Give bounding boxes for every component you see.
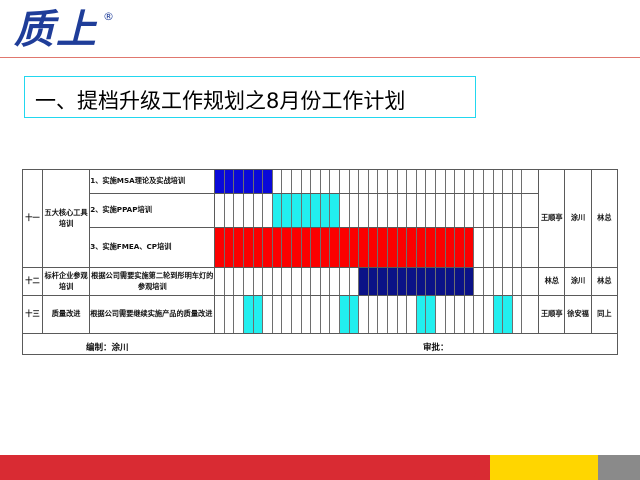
gantt-column [282, 194, 292, 227]
gantt-column [503, 194, 513, 227]
gantt-column [302, 228, 312, 267]
gantt-gridlines [215, 268, 538, 295]
gantt-column [234, 170, 244, 193]
page-title: 一、提档升级工作规划之8月份工作计划 [35, 85, 405, 115]
gantt-column [378, 194, 388, 227]
gantt-column [330, 228, 340, 267]
gantt-column [417, 170, 427, 193]
gantt-column [330, 268, 340, 295]
gantt-column [244, 296, 254, 333]
gantt-column [503, 170, 513, 193]
row-index-cell: 十一 [23, 170, 43, 268]
gantt-column [225, 228, 235, 267]
gantt-column [503, 268, 513, 295]
gantt-column [378, 296, 388, 333]
row-category-cell: 质量改进 [42, 296, 89, 334]
gantt-column [455, 296, 465, 333]
gantt-column [244, 194, 254, 227]
gantt-column [369, 170, 379, 193]
row-category-cell: 五大核心工具培训 [42, 170, 89, 268]
gantt-column [215, 268, 225, 295]
gantt-column [474, 194, 484, 227]
table-row: 十一五大核心工具培训1、实施MSA理论及实战培训王顺亭涂川林总 [23, 170, 618, 194]
gantt-column [426, 228, 436, 267]
gantt-column [426, 296, 436, 333]
gantt-column [474, 170, 484, 193]
owner-name-cell: 涂川 [565, 268, 591, 296]
gantt-column [302, 194, 312, 227]
gantt-column [273, 268, 283, 295]
gantt-column [273, 194, 283, 227]
gantt-column [302, 268, 312, 295]
gantt-column [330, 296, 340, 333]
gantt-gridlines [215, 170, 538, 193]
gantt-cell[interactable] [215, 268, 539, 296]
footer-gray-block [598, 455, 640, 480]
gantt-column [321, 194, 331, 227]
gantt-column [494, 170, 504, 193]
gantt-column [446, 228, 456, 267]
gantt-column [513, 296, 523, 333]
gantt-column [513, 228, 523, 267]
gantt-column [407, 296, 417, 333]
gantt-column [494, 296, 504, 333]
task-label-cell: 根据公司需要实施第二轮到彤明车灯的参观培训 [90, 268, 215, 296]
company-logo: 质上 [14, 8, 98, 52]
footer-red-block [0, 455, 492, 480]
header-divider [0, 57, 640, 58]
gantt-column [455, 228, 465, 267]
gantt-column [321, 228, 331, 267]
gantt-column [378, 228, 388, 267]
gantt-column [254, 228, 264, 267]
gantt-column [417, 194, 427, 227]
row-index-cell: 十三 [23, 296, 43, 334]
gantt-column [484, 296, 494, 333]
gantt-column [465, 268, 475, 295]
gantt-column [398, 170, 408, 193]
gantt-column [321, 268, 331, 295]
work-plan-table: 十一五大核心工具培训1、实施MSA理论及实战培训王顺亭涂川林总2、实施PPAP培… [22, 169, 618, 361]
gantt-column [254, 296, 264, 333]
owner-name-cell: 林总 [591, 170, 617, 268]
gantt-column [426, 194, 436, 227]
gantt-cell[interactable] [215, 170, 539, 194]
slide-header: 质上 ® [0, 0, 640, 58]
gantt-column [436, 296, 446, 333]
gantt-column [494, 228, 504, 267]
gantt-column [321, 170, 331, 193]
gantt-column [398, 296, 408, 333]
task-label-cell: 2、实施PPAP培训 [90, 194, 215, 228]
gantt-column [369, 228, 379, 267]
gantt-column [311, 170, 321, 193]
gantt-column [398, 268, 408, 295]
owner-name-cell: 林总 [539, 268, 565, 296]
gantt-column [446, 268, 456, 295]
gantt-column [426, 268, 436, 295]
gantt-column [503, 296, 513, 333]
gantt-column [359, 296, 369, 333]
gantt-column [474, 228, 484, 267]
gantt-column [388, 194, 398, 227]
gantt-column [513, 194, 523, 227]
gantt-column [225, 194, 235, 227]
gantt-column [244, 228, 254, 267]
gantt-column [398, 194, 408, 227]
gantt-column [474, 296, 484, 333]
gantt-column [446, 170, 456, 193]
gantt-column [359, 194, 369, 227]
gantt-column [263, 268, 273, 295]
gantt-column [234, 268, 244, 295]
gantt-column [340, 170, 350, 193]
gantt-column [465, 194, 475, 227]
gantt-column [340, 194, 350, 227]
gantt-column [388, 170, 398, 193]
gantt-column [359, 228, 369, 267]
gantt-column [340, 296, 350, 333]
gantt-column [494, 268, 504, 295]
gantt-column [417, 296, 427, 333]
gantt-column [446, 296, 456, 333]
gantt-column [417, 228, 427, 267]
gantt-column [513, 170, 523, 193]
gantt-column [292, 228, 302, 267]
gantt-column [254, 268, 264, 295]
gantt-column [484, 194, 494, 227]
gantt-column [398, 228, 408, 267]
gantt-column [311, 194, 321, 227]
gantt-column [359, 268, 369, 295]
owner-name-cell: 林总 [591, 268, 617, 296]
gantt-column [436, 228, 446, 267]
gantt-column [311, 296, 321, 333]
gantt-column [215, 228, 225, 267]
gantt-column [369, 194, 379, 227]
gantt-gridlines [215, 194, 538, 227]
gantt-column [455, 268, 465, 295]
gantt-column [321, 296, 331, 333]
gantt-column [369, 268, 379, 295]
gantt-column [292, 194, 302, 227]
gantt-cell[interactable] [215, 228, 539, 268]
gantt-column [225, 268, 235, 295]
gantt-column [234, 296, 244, 333]
gantt-column [263, 228, 273, 267]
gantt-column [302, 296, 312, 333]
gantt-column [484, 228, 494, 267]
gantt-column [465, 296, 475, 333]
gantt-column [234, 228, 244, 267]
gantt-column [350, 228, 360, 267]
gantt-column [292, 170, 302, 193]
gantt-column [282, 268, 292, 295]
gantt-column [215, 194, 225, 227]
row-category-cell: 标杆企业参观培训 [42, 268, 89, 296]
owner-name-cell: 涂川 [565, 170, 591, 268]
task-label-cell: 1、实施MSA理论及实战培训 [90, 170, 215, 194]
gantt-column [494, 194, 504, 227]
gantt-column [436, 194, 446, 227]
gantt-column [474, 268, 484, 295]
gantt-column [273, 170, 283, 193]
owner-name-cell: 王顺亭 [539, 296, 565, 334]
gantt-column [292, 268, 302, 295]
gantt-column [273, 228, 283, 267]
gantt-column [369, 296, 379, 333]
gantt-column [225, 296, 235, 333]
owner-name-cell: 王顺亭 [539, 170, 565, 268]
table-row: 十二标杆企业参观培训根据公司需要实施第二轮到彤明车灯的参观培训林总涂川林总 [23, 268, 618, 296]
gantt-column [273, 296, 283, 333]
gantt-column [215, 296, 225, 333]
approved-by-label: 审批： [423, 341, 449, 353]
gantt-column [359, 170, 369, 193]
owner-name-cell: 徐安福 [565, 296, 591, 334]
gantt-column [446, 194, 456, 227]
gantt-column [225, 170, 235, 193]
gantt-column [407, 268, 417, 295]
slide-footer-decoration [0, 455, 640, 480]
gantt-gridlines [215, 296, 538, 333]
gantt-column [282, 228, 292, 267]
gantt-column [282, 296, 292, 333]
table-row: 3、实施FMEA、CP培训 [23, 228, 618, 268]
gantt-column [350, 296, 360, 333]
gantt-column [484, 268, 494, 295]
gantt-column [330, 194, 340, 227]
gantt-column [234, 194, 244, 227]
plan-table: 十一五大核心工具培训1、实施MSA理论及实战培训王顺亭涂川林总2、实施PPAP培… [22, 169, 618, 355]
slide-title-box: 一、提档升级工作规划之8月份工作计划 [24, 76, 476, 118]
gantt-column [513, 268, 523, 295]
gantt-column [378, 268, 388, 295]
gantt-column [388, 268, 398, 295]
task-label-cell: 3、实施FMEA、CP培训 [90, 228, 215, 268]
gantt-column [484, 170, 494, 193]
gantt-gridlines [215, 228, 538, 267]
gantt-column [455, 194, 465, 227]
gantt-column [388, 296, 398, 333]
table-row: 2、实施PPAP培训 [23, 194, 618, 228]
gantt-column [254, 194, 264, 227]
gantt-column [378, 170, 388, 193]
gantt-column [244, 170, 254, 193]
prepared-by-label: 编制：涂川 [86, 341, 129, 353]
task-label-cell: 根据公司需要继续实施产品的质量改进 [90, 296, 215, 334]
row-index-cell: 十二 [23, 268, 43, 296]
gantt-column [465, 228, 475, 267]
gantt-column [426, 170, 436, 193]
gantt-column [302, 170, 312, 193]
gantt-column [350, 268, 360, 295]
gantt-column [455, 170, 465, 193]
gantt-column [340, 228, 350, 267]
registered-trademark-icon: ® [103, 10, 114, 23]
gantt-column [311, 268, 321, 295]
gantt-column [407, 170, 417, 193]
gantt-column [388, 228, 398, 267]
gantt-column [436, 268, 446, 295]
gantt-column [292, 296, 302, 333]
table-row: 十三质量改进根据公司需要继续实施产品的质量改进王顺亭徐安福同上 [23, 296, 618, 334]
gantt-column [263, 194, 273, 227]
gantt-column [311, 228, 321, 267]
gantt-column [417, 268, 427, 295]
gantt-column [407, 194, 417, 227]
gantt-column [254, 170, 264, 193]
gantt-column [407, 228, 417, 267]
gantt-column [263, 170, 273, 193]
gantt-column [503, 228, 513, 267]
gantt-column [340, 268, 350, 295]
gantt-column [263, 296, 273, 333]
gantt-column [465, 170, 475, 193]
gantt-cell[interactable] [215, 194, 539, 228]
gantt-column [244, 268, 254, 295]
gantt-cell[interactable] [215, 296, 539, 334]
gantt-column [330, 170, 340, 193]
gantt-column [350, 194, 360, 227]
gantt-column [215, 170, 225, 193]
owner-name-cell: 同上 [591, 296, 617, 334]
gantt-column [436, 170, 446, 193]
gantt-column [350, 170, 360, 193]
gantt-column [282, 170, 292, 193]
